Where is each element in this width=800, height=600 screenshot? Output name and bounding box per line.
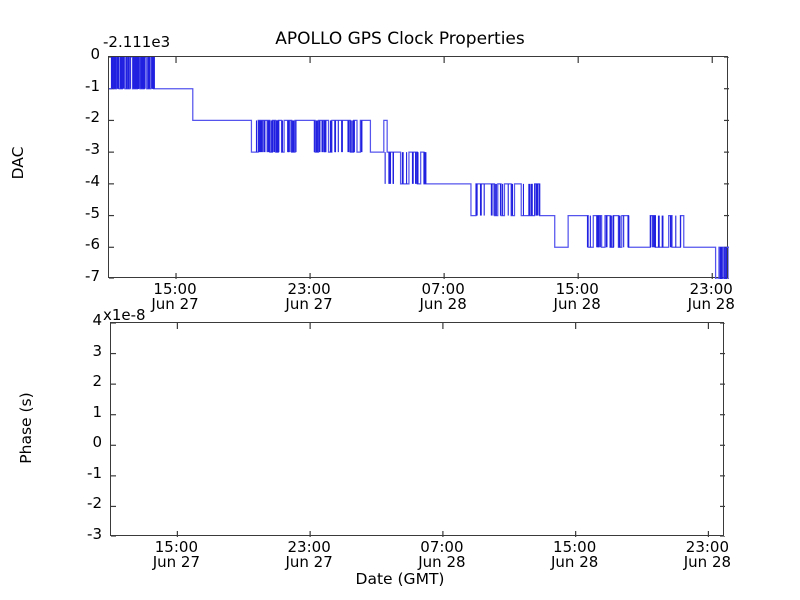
dac-axis-label: DAC <box>9 147 27 180</box>
matplotlib-figure: APOLLO GPS Clock Properties -2.111e3 DAC… <box>0 0 800 600</box>
dac-toggle-cluster-7 <box>721 247 727 279</box>
figure-title: APOLLO GPS Clock Properties <box>275 29 525 49</box>
dac-step-trace <box>109 57 729 279</box>
dac-plot-area <box>108 56 728 278</box>
dac-xtick-3: 15:00Jun 28 <box>554 282 601 313</box>
dac-toggle-cluster-4 <box>476 184 539 216</box>
phase-xtick-4: 23:00Jun 28 <box>684 540 731 571</box>
dac-xtick-2: 07:00Jun 28 <box>419 282 466 313</box>
dac-toggle-cluster-6 <box>651 216 681 248</box>
phase-xtick-2: 07:00Jun 28 <box>418 540 465 571</box>
dac-toggle-cluster-0 <box>112 57 154 89</box>
dac-xtick-0: 15:00Jun 27 <box>151 282 198 313</box>
phase-xtick-3: 15:00Jun 28 <box>551 540 598 571</box>
phase-xtick-1: 23:00Jun 27 <box>285 540 332 571</box>
phase-axis-label: Phase (s) <box>17 392 35 463</box>
x-axis-label: Date (GMT) <box>356 570 445 588</box>
dac-xtick-1: 23:00Jun 27 <box>285 282 332 313</box>
dac-xtick-4: 23:00Jun 28 <box>688 282 735 313</box>
dac-y-offset-text: -2.111e3 <box>103 33 170 51</box>
phase-xtick-0: 15:00Jun 27 <box>153 540 200 571</box>
dac-toggle-cluster-2 <box>314 120 361 152</box>
dac-toggle-cluster-3 <box>385 152 425 184</box>
phase-plot-area <box>110 322 724 536</box>
dac-toggle-cluster-1 <box>256 120 296 152</box>
